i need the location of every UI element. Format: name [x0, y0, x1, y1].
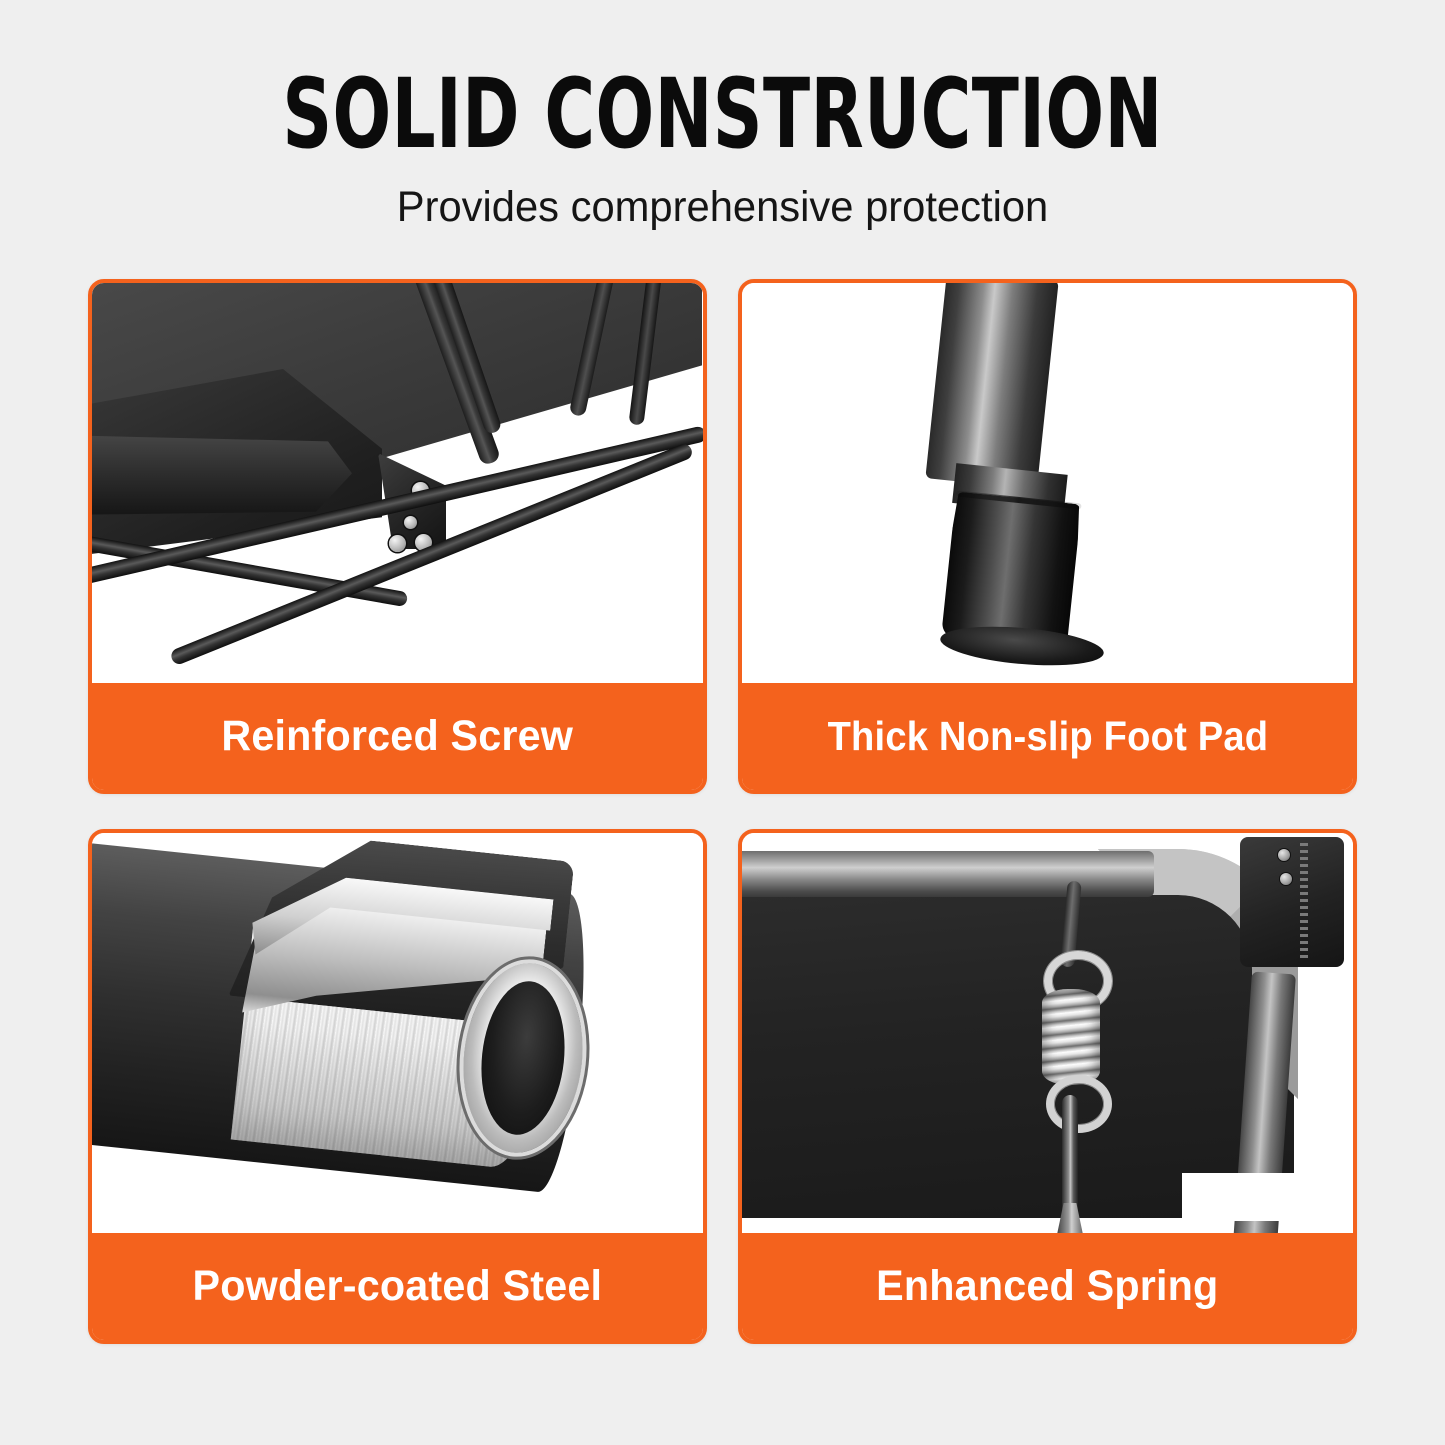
screw-icon	[404, 516, 417, 529]
caption-label: Thick Non-slip Foot Pad	[827, 716, 1268, 757]
feature-card-foot-pad: Thick Non-slip Foot Pad	[738, 279, 1357, 794]
feature-card-reinforced-screw: Reinforced Screw	[88, 279, 707, 794]
page-subtitle: Provides comprehensive protection	[22, 162, 1424, 231]
screw-icon	[389, 535, 406, 552]
caption-bar-enhanced-spring: Enhanced Spring	[742, 1233, 1353, 1340]
caption-bar-reinforced-screw: Reinforced Screw	[92, 683, 703, 790]
joint-stitching	[1300, 843, 1308, 961]
feature-card-enhanced-spring: Enhanced Spring	[738, 829, 1357, 1344]
caption-label: Reinforced Screw	[222, 715, 574, 758]
swing-seat-cushion-roll	[92, 435, 352, 515]
feature-card-grid: Reinforced Screw Thick Non-slip Foot Pad	[88, 279, 1357, 1356]
coil-spring	[1042, 989, 1100, 1085]
infographic-page: SOLID CONSTRUCTION Provides comprehensiv…	[0, 0, 1445, 1445]
rubber-foot-cap	[941, 491, 1082, 649]
foot-pad-photo	[742, 283, 1353, 683]
screw-icon	[1278, 849, 1290, 861]
page-title: SOLID CONSTRUCTION	[145, 0, 1301, 162]
foot-pad-base	[939, 621, 1106, 671]
reinforced-screw-photo	[92, 283, 703, 683]
powder-coated-steel-photo	[92, 833, 703, 1233]
header: SOLID CONSTRUCTION Provides comprehensiv…	[0, 0, 1445, 231]
fabric-corner-notch	[1182, 1173, 1294, 1221]
frame-joint-cover	[1240, 837, 1344, 967]
caption-label: Powder-coated Steel	[193, 1265, 603, 1308]
steel-tube-leg	[925, 283, 1058, 490]
enhanced-spring-photo	[742, 833, 1353, 1233]
spring-lower-hook-ring	[1046, 1075, 1112, 1133]
feature-card-powder-coated-steel: Powder-coated Steel	[88, 829, 707, 1344]
frame-top-bar	[742, 851, 1154, 897]
screw-icon	[1280, 873, 1292, 885]
caption-bar-foot-pad: Thick Non-slip Foot Pad	[742, 683, 1353, 790]
caption-label: Enhanced Spring	[876, 1265, 1218, 1308]
caption-bar-powder-coated-steel: Powder-coated Steel	[92, 1233, 703, 1340]
